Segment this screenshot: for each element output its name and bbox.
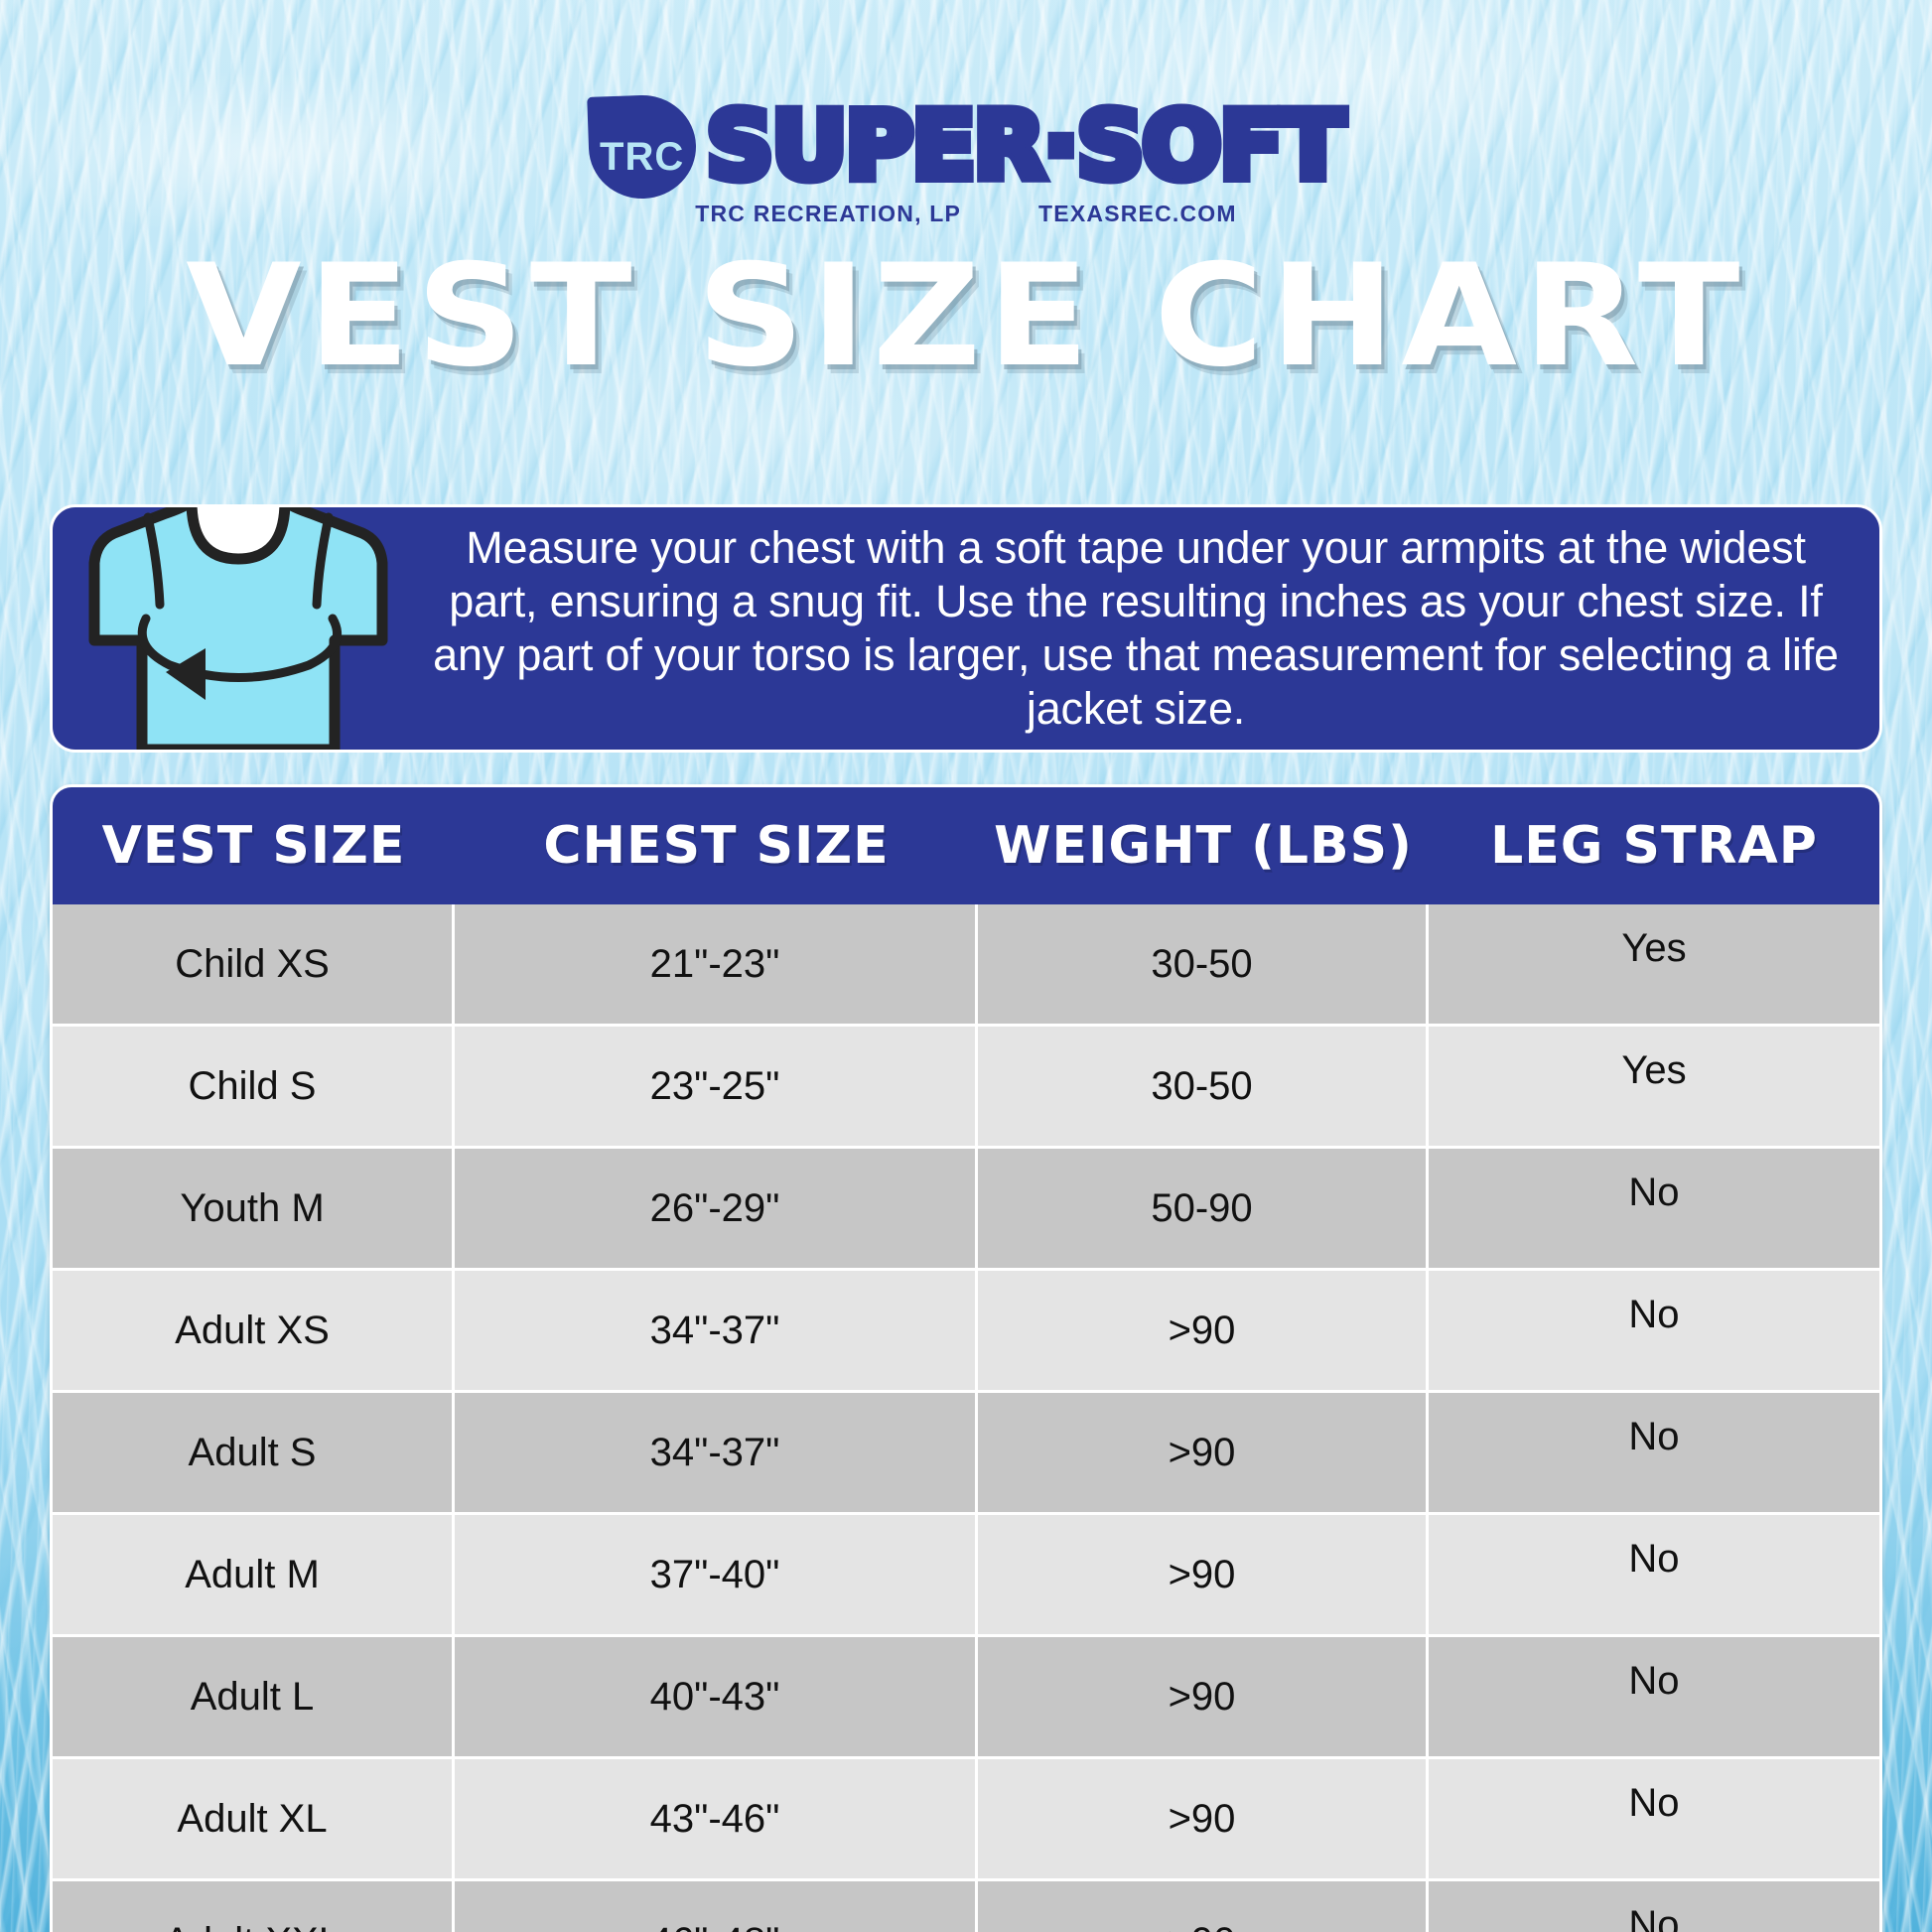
cell-leg-strap: No bbox=[1429, 1515, 1879, 1637]
cell-leg-strap: No bbox=[1429, 1393, 1879, 1515]
cell-weight: >90 bbox=[978, 1515, 1429, 1637]
table-row: Adult XL43"-46">90No bbox=[53, 1759, 1879, 1881]
cell-chest-size: 34"-37" bbox=[455, 1393, 978, 1515]
cell-weight: 50-90 bbox=[978, 1149, 1429, 1271]
table-row: Child XS21"-23"30-50Yes bbox=[53, 904, 1879, 1027]
cell-chest-size: 37"-40" bbox=[455, 1515, 978, 1637]
cell-chest-size: 46"-48" bbox=[455, 1881, 978, 1932]
cell-weight: 30-50 bbox=[978, 1027, 1429, 1149]
cell-leg-strap: No bbox=[1429, 1271, 1879, 1393]
column-header-weight: WEIGHT (LBS) bbox=[978, 787, 1429, 904]
cell-vest-size: Adult XXL bbox=[53, 1881, 455, 1932]
cell-vest-size: Child S bbox=[53, 1027, 455, 1149]
supersoft-wordmark: SUPER·SOFT bbox=[706, 102, 1342, 191]
cell-weight: >90 bbox=[978, 1759, 1429, 1881]
table-row: Youth M26"-29"50-90No bbox=[53, 1149, 1879, 1271]
website-url: TEXASREC.COM bbox=[1038, 201, 1237, 227]
cell-vest-size: Child XS bbox=[53, 904, 455, 1027]
cell-chest-size: 34"-37" bbox=[455, 1271, 978, 1393]
instruction-text: Measure your chest with a soft tape unde… bbox=[420, 507, 1879, 750]
cell-chest-size: 23"-25" bbox=[455, 1027, 978, 1149]
logo-row: TRC SUPER·SOFT bbox=[589, 95, 1342, 199]
chest-measure-icon bbox=[74, 504, 402, 750]
cell-chest-size: 43"-46" bbox=[455, 1759, 978, 1881]
table-header-row: VEST SIZE CHEST SIZE WEIGHT (LBS) LEG ST… bbox=[53, 787, 1879, 904]
instruction-panel: Measure your chest with a soft tape unde… bbox=[50, 504, 1882, 753]
table-row: Adult XS34"-37">90No bbox=[53, 1271, 1879, 1393]
brand-logo: TRC SUPER·SOFT TRC RECREATION, LP TEXASR… bbox=[0, 95, 1932, 227]
column-header-leg-strap: LEG STRAP bbox=[1429, 787, 1879, 904]
cell-weight: >90 bbox=[978, 1637, 1429, 1759]
cell-weight: >90 bbox=[978, 1881, 1429, 1932]
cell-vest-size: Adult S bbox=[53, 1393, 455, 1515]
cell-vest-size: Youth M bbox=[53, 1149, 455, 1271]
cell-leg-strap: No bbox=[1429, 1637, 1879, 1759]
table-row: Adult L40"-43">90No bbox=[53, 1637, 1879, 1759]
cell-weight: 30-50 bbox=[978, 904, 1429, 1027]
cell-vest-size: Adult XL bbox=[53, 1759, 455, 1881]
table-row: Adult XXL46"-48">90No bbox=[53, 1881, 1879, 1932]
trc-droplet-icon: TRC bbox=[588, 93, 699, 201]
cell-leg-strap: Yes bbox=[1429, 904, 1879, 1027]
cell-leg-strap: No bbox=[1429, 1881, 1879, 1932]
cell-vest-size: Adult L bbox=[53, 1637, 455, 1759]
column-header-chest-size: CHEST SIZE bbox=[455, 787, 978, 904]
brand-tagline: TRC RECREATION, LP TEXASREC.COM bbox=[695, 201, 1237, 227]
cell-weight: >90 bbox=[978, 1393, 1429, 1515]
cell-leg-strap: Yes bbox=[1429, 1027, 1879, 1149]
column-header-vest-size: VEST SIZE bbox=[53, 787, 455, 904]
cell-leg-strap: No bbox=[1429, 1759, 1879, 1881]
cell-weight: >90 bbox=[978, 1271, 1429, 1393]
vest-size-chart-page: TRC SUPER·SOFT TRC RECREATION, LP TEXASR… bbox=[0, 0, 1932, 1932]
cell-vest-size: Adult M bbox=[53, 1515, 455, 1637]
cell-chest-size: 21"-23" bbox=[455, 904, 978, 1027]
cell-chest-size: 40"-43" bbox=[455, 1637, 978, 1759]
company-name: TRC RECREATION, LP bbox=[695, 201, 961, 227]
table-row: Adult S34"-37">90No bbox=[53, 1393, 1879, 1515]
torso-illustration bbox=[53, 507, 420, 750]
cell-vest-size: Adult XS bbox=[53, 1271, 455, 1393]
size-table: VEST SIZE CHEST SIZE WEIGHT (LBS) LEG ST… bbox=[50, 784, 1882, 1932]
cell-leg-strap: No bbox=[1429, 1149, 1879, 1271]
cell-chest-size: 26"-29" bbox=[455, 1149, 978, 1271]
table-row: Child S23"-25"30-50Yes bbox=[53, 1027, 1879, 1149]
table-row: Adult M37"-40">90No bbox=[53, 1515, 1879, 1637]
trc-badge-label: TRC bbox=[601, 135, 685, 180]
page-title: VEST SIZE CHART bbox=[0, 246, 1932, 387]
table-body: Child XS21"-23"30-50YesChild S23"-25"30-… bbox=[53, 904, 1879, 1932]
